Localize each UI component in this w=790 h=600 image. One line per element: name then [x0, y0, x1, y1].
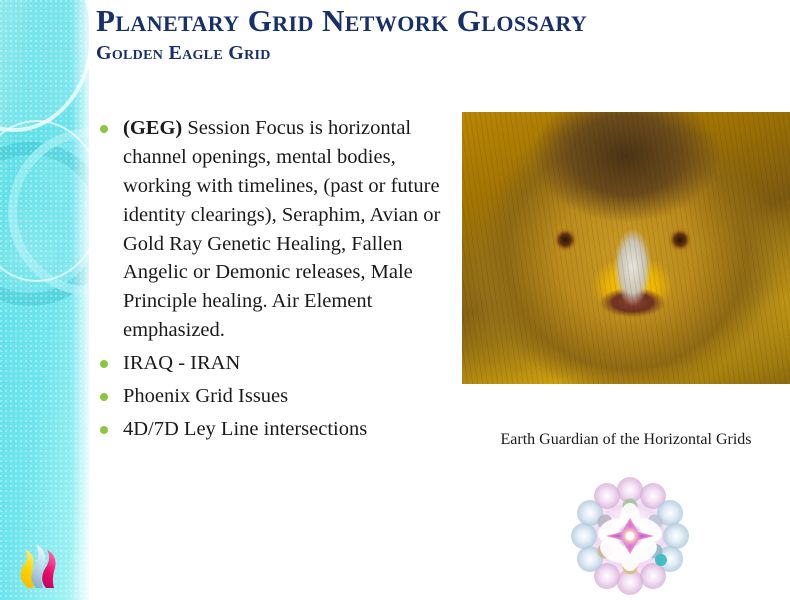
band-edge-fade [71, 0, 89, 600]
bullet-list: (GEG) Session Focus is horizontal channe… [96, 114, 448, 448]
image-caption: Earth Guardian of the Horizontal Grids [462, 430, 790, 449]
eagle-feather-texture [462, 112, 790, 384]
list-item: Phoenix Grid Issues [96, 382, 448, 411]
mandala-image [560, 472, 700, 600]
list-item: (GEG) Session Focus is horizontal channe… [96, 114, 448, 345]
bullet-text: Session Focus is horizontal channel open… [123, 117, 440, 341]
slide-subtitle: Golden Eagle Grid [96, 42, 596, 64]
bullet-text: IRAQ - IRAN [123, 352, 240, 374]
decorative-sidebar-band [0, 0, 89, 600]
bullet-lead-label: (GEG) [123, 117, 182, 139]
tri-flame-logo-icon [8, 532, 70, 594]
mandala-graphic-icon [560, 472, 700, 600]
bullet-text: Phoenix Grid Issues [123, 385, 288, 407]
slide-title: Planetary Grid Network Glossary [96, 4, 756, 37]
bullet-text: 4D/7D Ley Line intersections [123, 418, 367, 440]
list-item: IRAQ - IRAN [96, 349, 448, 378]
slide-canvas: Planetary Grid Network Glossary Golden E… [0, 0, 790, 600]
golden-eagle-image [462, 112, 790, 384]
list-item: 4D/7D Ley Line intersections [96, 415, 448, 444]
